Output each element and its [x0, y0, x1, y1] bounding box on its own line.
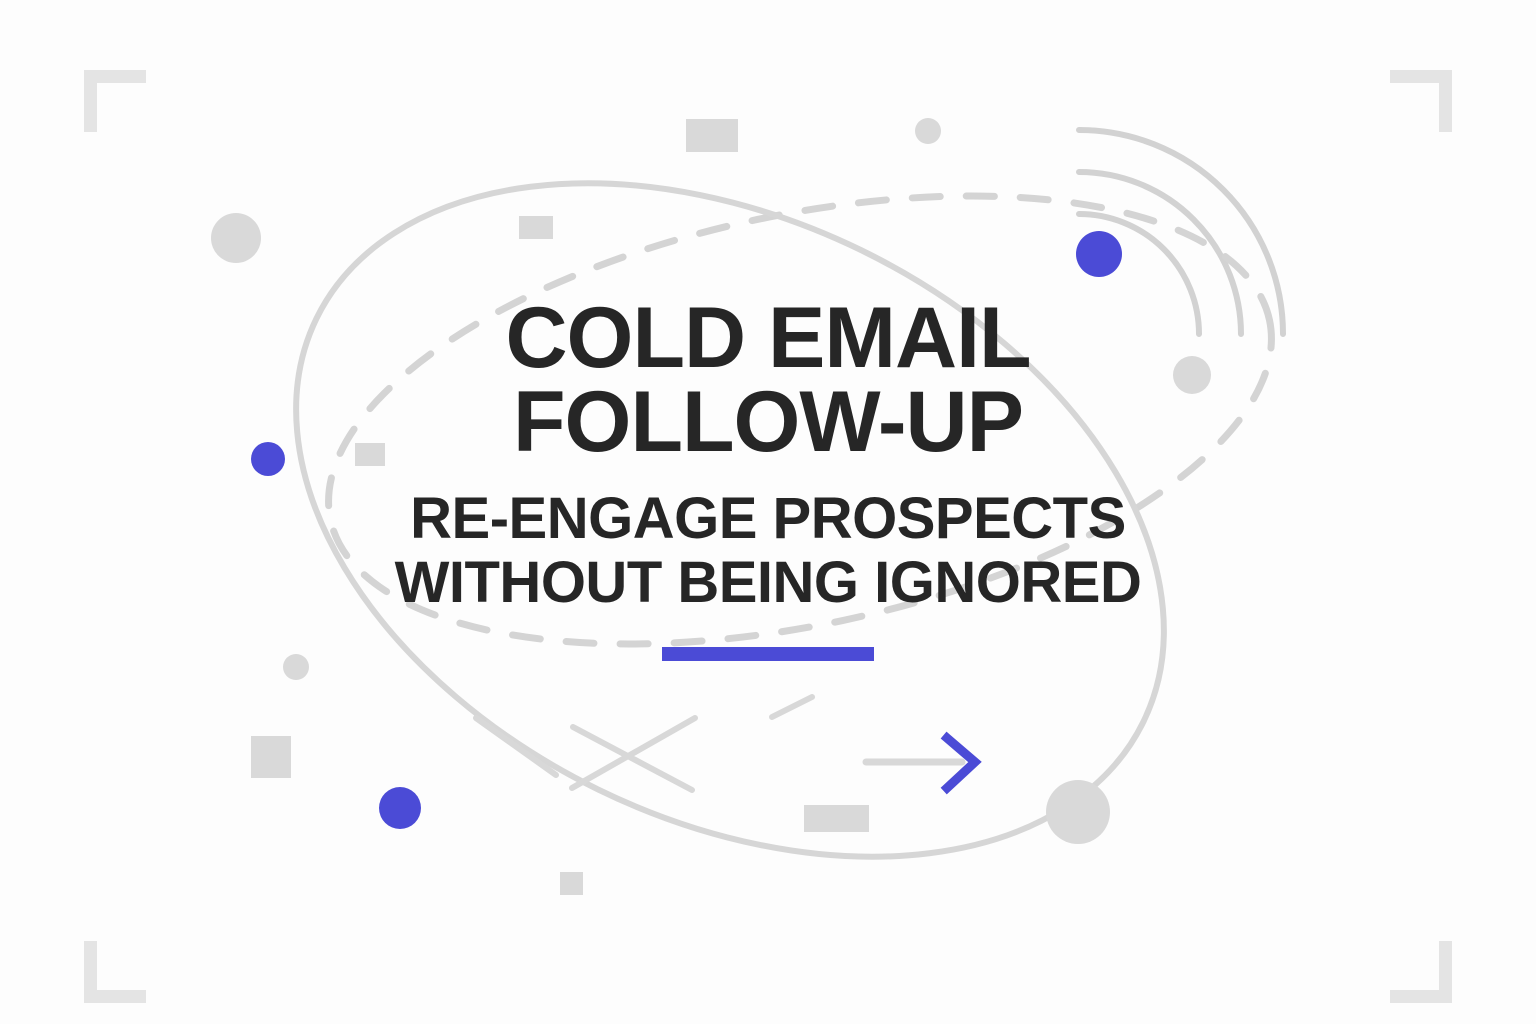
gray-square-upper-left — [519, 216, 553, 239]
accent-dot-bottom-left — [379, 787, 421, 829]
corner-bracket-top-left — [84, 70, 146, 132]
page-subtitle: RE-ENGAGE PROSPECTS WITHOUT BEING IGNORE… — [395, 487, 1142, 617]
subtitle-line-1: RE-ENGAGE PROSPECTS — [395, 487, 1142, 552]
gray-circle-right — [1173, 356, 1211, 394]
accent-dot-left — [251, 442, 285, 476]
corner-bracket-bottom-left — [84, 941, 146, 1003]
poster-canvas: COLD EMAIL FOLLOW-UP RE-ENGAGE PROSPECTS… — [0, 0, 1536, 1024]
gray-circle-top-left — [211, 213, 261, 263]
gray-circle-top-center — [915, 118, 941, 144]
title-line-2: FOLLOW-UP — [505, 380, 1030, 464]
gray-circle-bottom-right — [1046, 780, 1110, 844]
diagonal-line-d — [772, 697, 812, 717]
title-line-1: COLD EMAIL — [505, 296, 1030, 380]
diagonal-line-a — [476, 718, 556, 775]
gray-circle-left-small — [283, 654, 309, 680]
gray-square-mid-left — [355, 443, 385, 466]
accent-dot-top-right — [1076, 231, 1122, 277]
page-title: COLD EMAIL FOLLOW-UP — [505, 296, 1030, 465]
corner-bracket-bottom-right — [1390, 941, 1452, 1003]
gray-square-top — [686, 119, 738, 152]
forward-arrow — [866, 738, 975, 788]
accent-divider-bar — [662, 647, 874, 661]
gray-square-bottom-small — [560, 872, 583, 895]
subtitle-line-2: WITHOUT BEING IGNORED — [395, 551, 1142, 616]
corner-bracket-top-right — [1390, 70, 1452, 132]
gray-square-lower-left — [251, 736, 291, 778]
diagonal-line-c — [572, 718, 695, 788]
gray-square-bottom-center — [804, 805, 869, 832]
cross-line-group — [476, 697, 812, 790]
